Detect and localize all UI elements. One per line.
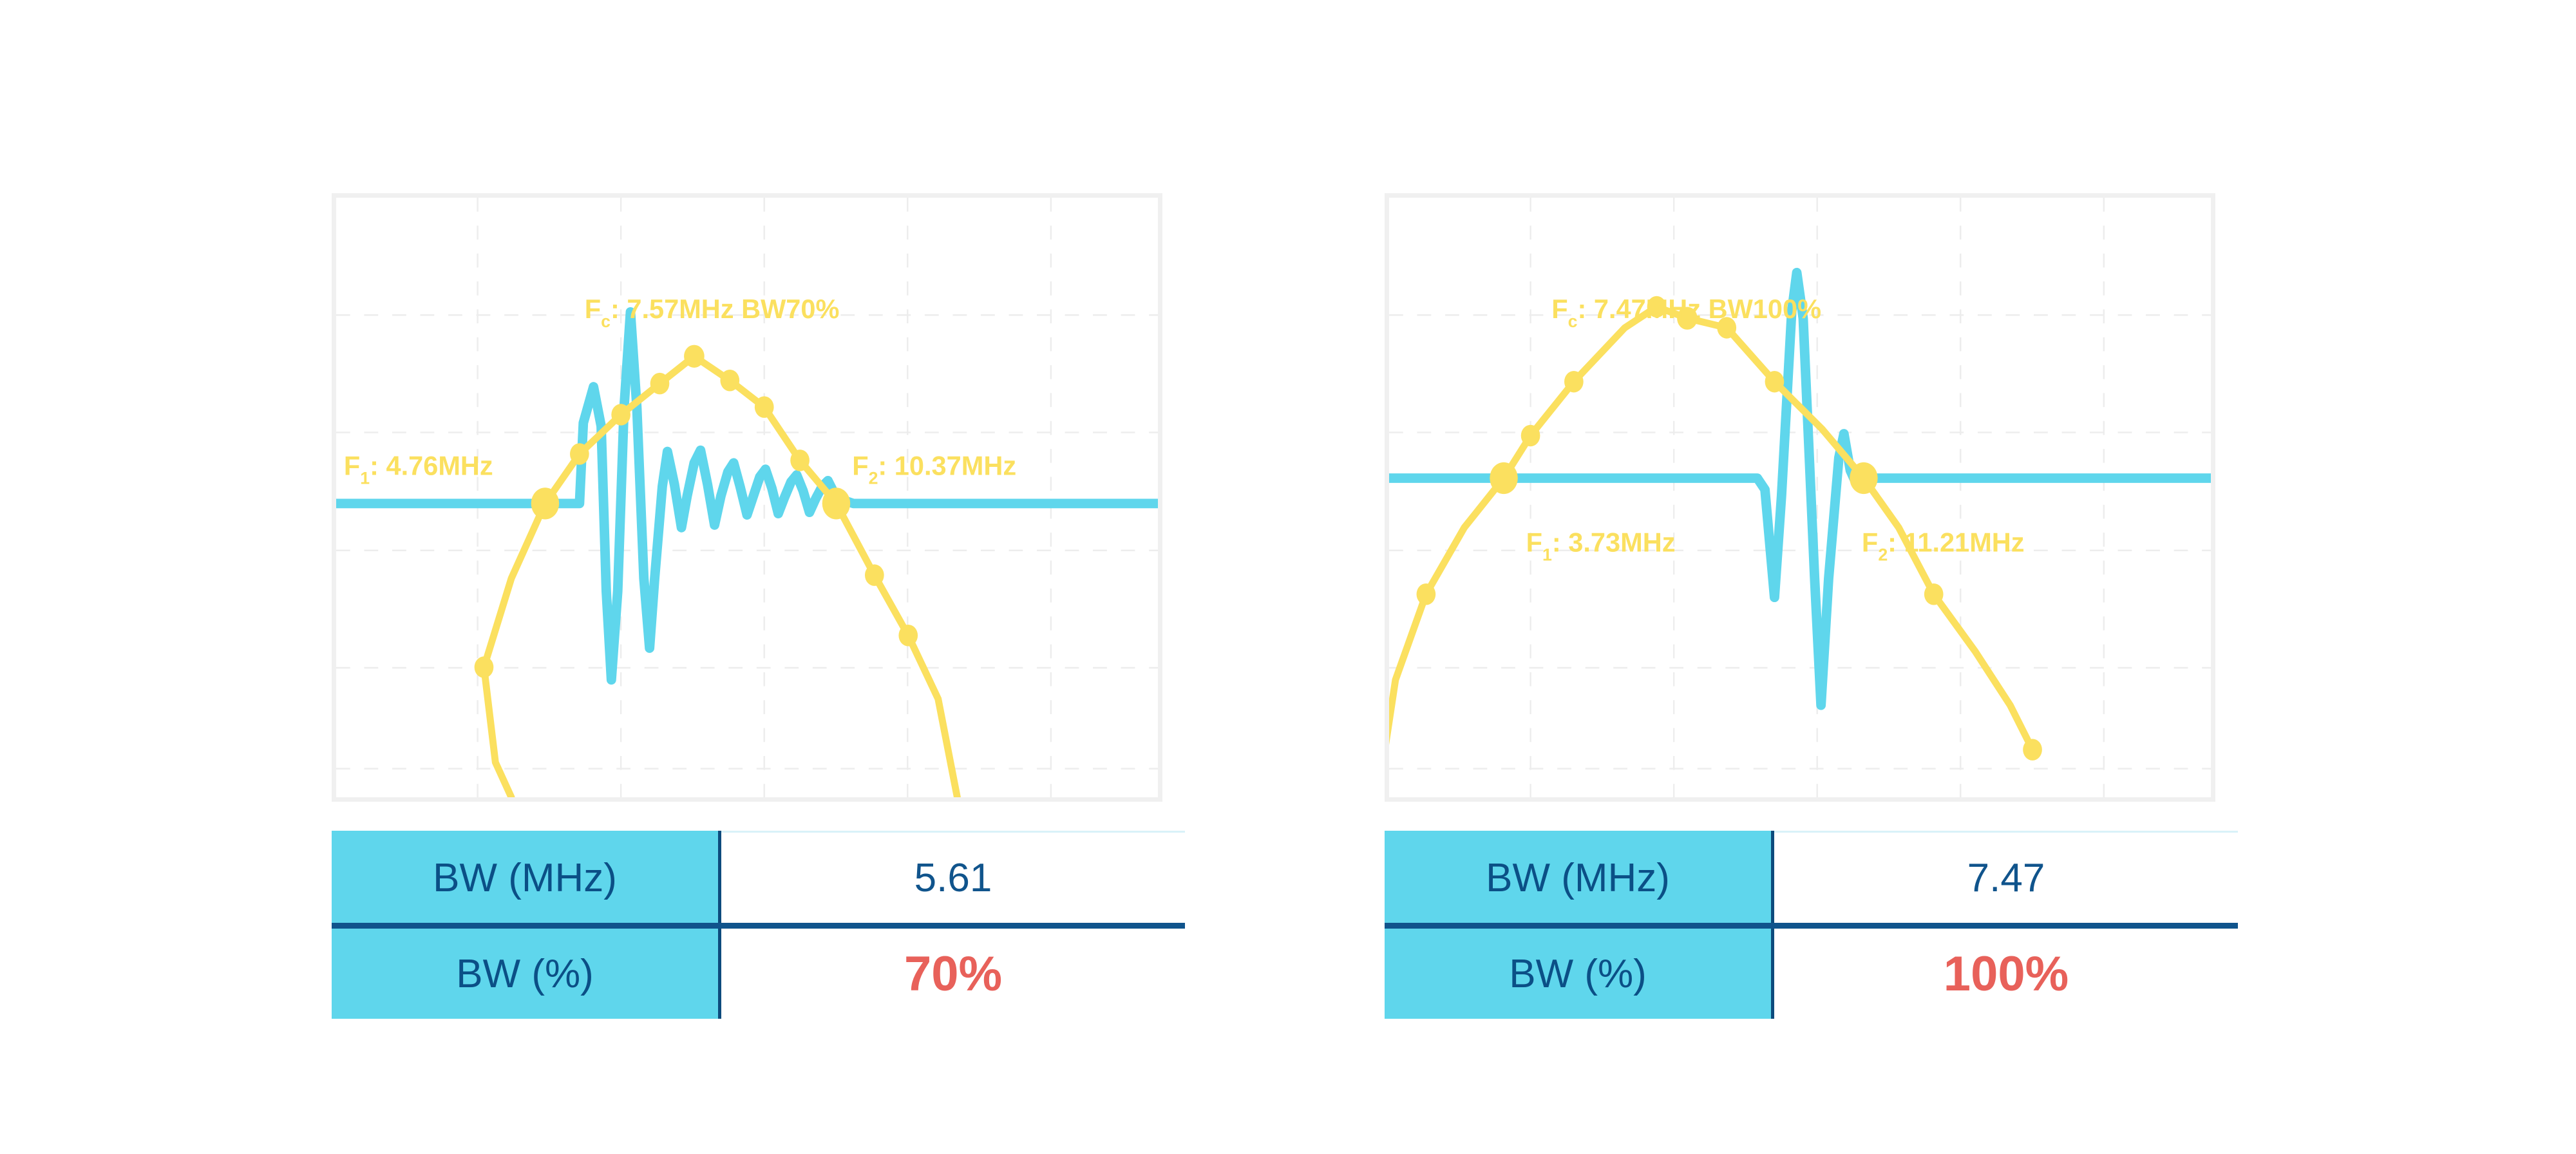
panel-left: Fc: 7.57MHz BW70% F1: 4.76MHz F2: 10.37M… xyxy=(332,193,1182,1019)
panel-right: Fc: 7.47MHz BW100% F1: 3.73MHz F2: 11.21… xyxy=(1385,193,2235,1019)
table-row: BW (MHz) 7.47 xyxy=(1385,832,2238,923)
fc-subscript-left: c xyxy=(601,312,611,331)
f2-text-left: : 10.37MHz xyxy=(878,451,1016,481)
fc-text-left: : 7.57MHz BW70% xyxy=(611,294,839,324)
fc-text-right: : 7.47MHz BW100% xyxy=(1577,294,1821,324)
annotation-f2-right: F2: 11.21MHz xyxy=(1862,527,2025,565)
divider-cell-left-1 xyxy=(332,923,720,929)
bw-pct-label-right: BW (%) xyxy=(1385,929,1773,1019)
chart-right-svg: Fc: 7.47MHz BW100% F1: 3.73MHz F2: 11.21… xyxy=(1389,198,2211,797)
f2-subscript-left: 2 xyxy=(869,468,878,487)
bw-mhz-value-right: 7.47 xyxy=(1773,832,2239,923)
fc-subscript-right: c xyxy=(1568,312,1578,331)
bw-table-wrap-left: BW (MHz) 5.61 BW (%) 70% xyxy=(332,831,1182,1019)
bw-table-left: BW (MHz) 5.61 BW (%) 70% xyxy=(332,831,1185,1019)
table-row: BW (MHz) 5.61 xyxy=(332,832,1185,923)
chart-frame-left: Fc: 7.57MHz BW70% F1: 4.76MHz F2: 10.37M… xyxy=(332,193,1162,802)
spectrum-curve-left xyxy=(484,356,957,797)
bw-table-wrap-right: BW (MHz) 7.47 BW (%) 100% xyxy=(1385,831,2235,1019)
f1-text-left: : 4.76MHz xyxy=(370,451,493,481)
annotation-fc-left: Fc: 7.57MHz BW70% xyxy=(585,294,840,331)
bw-pct-label-left: BW (%) xyxy=(332,929,720,1019)
divider-cell-right-1 xyxy=(1385,923,1773,929)
bw-mhz-label-right: BW (MHz) xyxy=(1385,832,1773,923)
f1-subscript-right: 1 xyxy=(1542,545,1552,565)
divider-cell-left-2 xyxy=(720,923,1186,929)
annotation-f1-right: F1: 3.73MHz xyxy=(1526,527,1676,565)
fc-symbol-left: F xyxy=(585,294,601,324)
bw-mhz-label-left: BW (MHz) xyxy=(332,832,720,923)
f1-symbol-right: F xyxy=(1526,527,1542,558)
pulse-waveform-left xyxy=(336,312,1158,679)
annotation-f1-left: F1: 4.76MHz xyxy=(344,451,493,488)
fc-symbol-right: F xyxy=(1551,294,1567,324)
bw-table-right: BW (MHz) 7.47 BW (%) 100% xyxy=(1385,831,2238,1019)
f2-symbol-left: F xyxy=(852,451,868,481)
divider-cell-right-2 xyxy=(1773,923,2239,929)
f2-subscript-right: 2 xyxy=(1878,545,1888,565)
table-divider-right xyxy=(1385,923,2238,929)
bw-pct-value-left: 70% xyxy=(720,929,1186,1019)
table-divider-left xyxy=(332,923,1185,929)
f1-symbol-left: F xyxy=(344,451,360,481)
f2-symbol-right: F xyxy=(1862,527,1878,558)
table-row: BW (%) 70% xyxy=(332,929,1185,1019)
bw-mhz-value-left: 5.61 xyxy=(720,832,1186,923)
table-row: BW (%) 100% xyxy=(1385,929,2238,1019)
chart-frame-right: Fc: 7.47MHz BW100% F1: 3.73MHz F2: 11.21… xyxy=(1385,193,2215,802)
f2-text-right: : 11.21MHz xyxy=(1888,527,2024,558)
spectrum-markers-left xyxy=(475,345,918,678)
f1-text-right: : 3.73MHz xyxy=(1552,527,1676,558)
bw-pct-value-right: 100% xyxy=(1773,929,2239,1019)
f1-subscript-left: 1 xyxy=(360,468,370,487)
annotation-f2-left: F2: 10.37MHz xyxy=(852,451,1016,488)
chart-left-svg: Fc: 7.57MHz BW70% F1: 4.76MHz F2: 10.37M… xyxy=(336,198,1158,797)
